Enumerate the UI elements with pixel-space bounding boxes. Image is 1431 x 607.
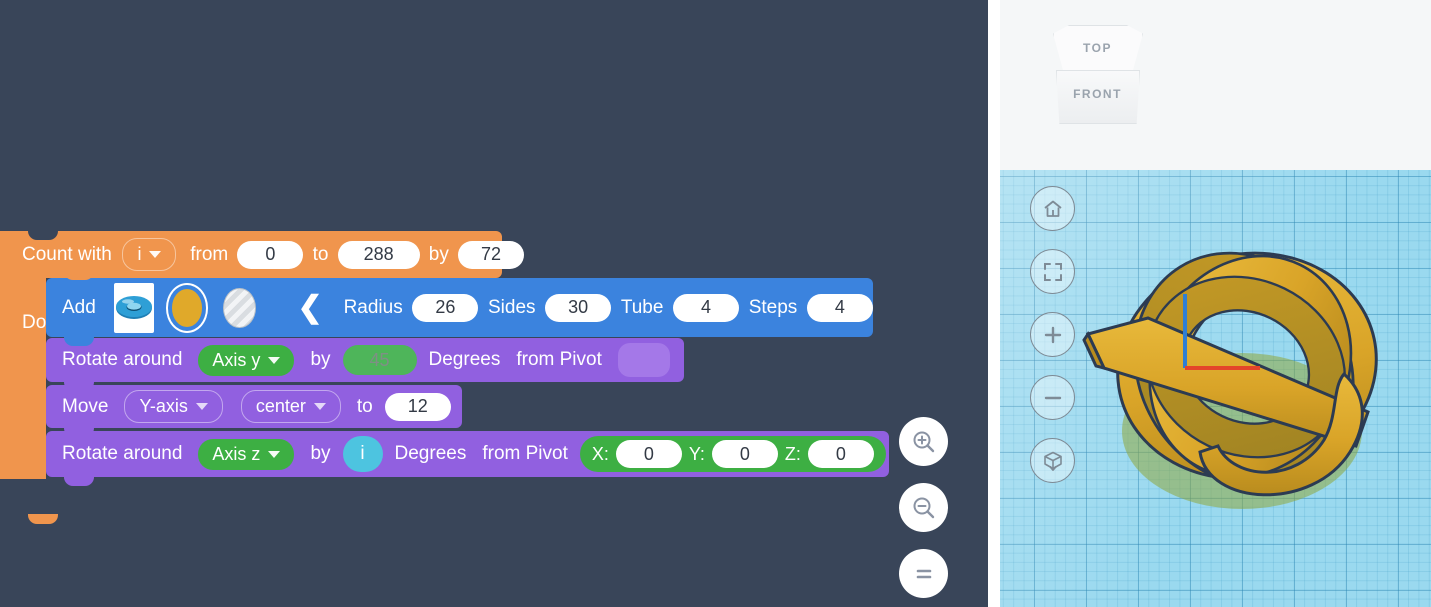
rotate-y-degrees-label: Degrees <box>429 349 501 371</box>
code-zoom-out-button[interactable] <box>899 483 948 532</box>
count-block-bottom-notch <box>28 514 58 524</box>
fit-view-button[interactable] <box>1030 249 1075 294</box>
count-by-input[interactable]: 72 <box>458 241 524 269</box>
rotate-z-degrees-label: Degrees <box>395 443 467 465</box>
fit-frame-icon <box>1042 261 1064 283</box>
code-zoom-in-button[interactable] <box>899 417 948 466</box>
count-variable-label: i <box>137 244 141 265</box>
minus-icon <box>1042 387 1064 409</box>
rotate-y-pivot-label: from Pivot <box>516 349 602 371</box>
code-zoom-reset-button[interactable] <box>899 549 948 598</box>
add-sides-input[interactable]: 30 <box>545 294 611 322</box>
move-axis-dropdown[interactable]: Y-axis <box>124 390 222 423</box>
view-cube[interactable]: TOP FRONT <box>1050 25 1145 125</box>
cube-arrow-icon <box>1042 450 1064 472</box>
code-panel-scrollbar-track[interactable] <box>968 0 988 607</box>
home-icon <box>1042 198 1064 220</box>
3d-viewport-panel: TOP FRONT <box>1000 0 1431 607</box>
count-with-label: Count with <box>22 244 112 266</box>
home-view-button[interactable] <box>1030 186 1075 231</box>
add-steps-input[interactable]: 4 <box>807 294 873 322</box>
hole-swatch[interactable] <box>223 288 256 328</box>
rotate-z-pivot-coords[interactable]: X: 0 Y: 0 Z: 0 <box>580 436 886 472</box>
add-tube-label: Tube <box>621 297 664 319</box>
chevron-down-icon <box>314 403 326 410</box>
count-to-input[interactable]: 288 <box>338 241 420 269</box>
move-anchor-dropdown[interactable]: center <box>241 390 341 423</box>
rotate-z-by-label: by <box>310 443 330 465</box>
add-block-bottom-notch <box>64 337 94 346</box>
rotate-y-axis-dropdown[interactable]: Axis y <box>198 345 294 376</box>
rotate-z-bottom-notch <box>64 477 94 486</box>
chevron-down-icon <box>268 357 280 364</box>
add-shape-block[interactable]: Add ❮ Radius <box>46 278 873 337</box>
pivot-z-input[interactable]: 0 <box>808 440 874 468</box>
rotate-around-z-block[interactable]: Rotate around Axis z by i Degrees from P… <box>46 431 889 477</box>
move-block[interactable]: Move Y-axis center to 12 <box>46 385 462 428</box>
view-cube-front-label: FRONT <box>1050 87 1145 101</box>
viewport-toolbar-area: TOP FRONT <box>1000 0 1431 170</box>
plus-icon <box>1042 324 1064 346</box>
move-to-label: to <box>357 396 373 418</box>
count-by-label: by <box>429 244 449 266</box>
rotate-y-by-label: by <box>310 349 330 371</box>
count-do-label: Do <box>22 312 46 334</box>
chevron-down-icon <box>149 251 161 258</box>
model-geometry <box>1082 216 1422 556</box>
solid-color-swatch[interactable] <box>172 289 203 327</box>
rotate-y-degrees-input[interactable]: 45 <box>343 345 417 375</box>
rotate-y-axis-value: Axis y <box>212 350 260 371</box>
pivot-y-input[interactable]: 0 <box>712 440 778 468</box>
rotate-z-degrees-variable[interactable]: i <box>343 436 383 472</box>
rotate-y-label: Rotate around <box>62 349 182 371</box>
count-from-label: from <box>190 244 228 266</box>
torus-knot-model[interactable] <box>1082 216 1422 556</box>
add-steps-label: Steps <box>749 297 798 319</box>
add-tube-input[interactable]: 4 <box>673 294 739 322</box>
move-anchor-value: center <box>256 396 306 417</box>
rotate-z-label: Rotate around <box>62 443 182 465</box>
move-axis-value: Y-axis <box>139 396 187 417</box>
count-inner-top-notch <box>64 271 94 280</box>
view-cube-top-label: TOP <box>1050 41 1145 55</box>
rotate-z-pivot-label: from Pivot <box>482 443 568 465</box>
add-radius-label: Radius <box>344 297 403 319</box>
tinkercad-codeblocks-app: Count with i from 0 to 288 by 72 Do <box>0 0 1431 607</box>
pivot-z-label: Z: <box>785 444 801 465</box>
panel-splitter[interactable] <box>988 0 1000 607</box>
zoom-in-button[interactable] <box>1030 312 1075 357</box>
count-to-label: to <box>313 244 329 266</box>
move-label: Move <box>62 396 108 418</box>
count-from-input[interactable]: 0 <box>237 241 303 269</box>
zoom-out-button[interactable] <box>1030 375 1075 420</box>
add-radius-input[interactable]: 26 <box>412 294 478 322</box>
add-sides-label: Sides <box>488 297 536 319</box>
zoom-reset-icon <box>911 561 937 587</box>
chevron-left-icon[interactable]: ❮ <box>298 293 323 323</box>
pivot-x-label: X: <box>592 444 609 465</box>
zoom-out-icon <box>911 495 937 521</box>
ortho-view-button[interactable] <box>1030 438 1075 483</box>
rotate-z-axis-value: Axis z <box>212 444 260 465</box>
rotate-z-axis-dropdown[interactable]: Axis z <box>198 439 294 470</box>
rotate-around-y-block[interactable]: Rotate around Axis y by 45 Degrees from … <box>46 338 684 382</box>
count-block-spine <box>0 275 46 479</box>
pivot-x-input[interactable]: 0 <box>616 440 682 468</box>
torus-shape-icon[interactable] <box>114 283 154 333</box>
count-variable-dropdown[interactable]: i <box>122 238 176 271</box>
code-blocks-panel: Count with i from 0 to 288 by 72 Do <box>0 0 998 607</box>
chevron-down-icon <box>268 451 280 458</box>
chevron-down-icon <box>196 403 208 410</box>
rotate-y-pivot-slot[interactable] <box>618 343 670 377</box>
add-label: Add <box>62 297 96 319</box>
move-value-input[interactable]: 12 <box>385 393 451 421</box>
zoom-in-icon <box>911 429 937 455</box>
pivot-y-label: Y: <box>689 444 705 465</box>
workplane-grid[interactable] <box>1000 170 1431 607</box>
